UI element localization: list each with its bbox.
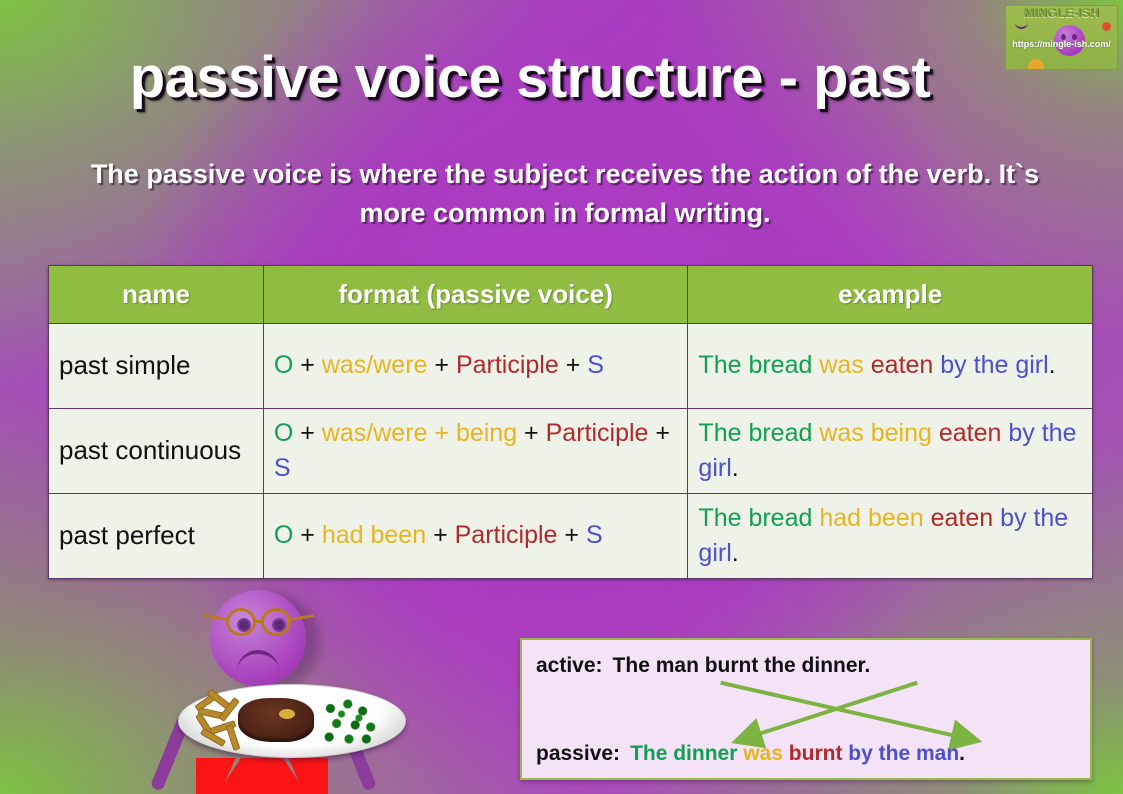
passive-sentence: The dinner was burnt by the man. xyxy=(630,742,965,765)
character-shirt xyxy=(196,758,328,794)
page-title: passive voice structure - past xyxy=(0,44,1060,111)
cell-example: The bread had been eaten by the girl. xyxy=(688,494,1093,579)
token: being xyxy=(456,419,517,447)
token: S xyxy=(586,521,603,549)
token: eaten xyxy=(931,504,994,532)
cell-format: O + was/were + being + Participle + S xyxy=(263,409,688,494)
table-row: past simple O + was/were + Participle + … xyxy=(49,324,1093,409)
table-body: past simple O + was/were + Participle + … xyxy=(49,324,1093,579)
token: had been xyxy=(819,504,923,532)
token: eaten xyxy=(939,419,1002,447)
token: had been xyxy=(322,521,426,549)
logo-dot-icon xyxy=(1102,22,1111,31)
token: Participle xyxy=(456,351,559,379)
token: was/were xyxy=(322,419,428,447)
token: The dinner xyxy=(630,742,737,765)
peas-food-icon xyxy=(318,696,380,746)
active-sentence: The man burnt the dinner. xyxy=(613,654,871,677)
token: + xyxy=(559,351,588,379)
token: + xyxy=(427,419,456,447)
passive-voice-table: name format (passive voice) example past… xyxy=(48,265,1093,579)
cell-tense-name: past continuous xyxy=(49,409,264,494)
token: The bread xyxy=(698,351,812,379)
token: The bread xyxy=(698,419,812,447)
token: + xyxy=(648,419,670,447)
glasses-lens-left xyxy=(226,608,256,636)
cell-tense-name: past perfect xyxy=(49,494,264,579)
token: S xyxy=(274,454,291,482)
token xyxy=(932,419,939,447)
token: Participle xyxy=(546,419,649,447)
arrow-subject-to-agent xyxy=(721,683,971,740)
table-header-row: name format (passive voice) example xyxy=(49,266,1093,324)
token: . xyxy=(1049,351,1056,379)
token xyxy=(864,351,871,379)
table-row: past continuous O + was/were + being + P… xyxy=(49,409,1093,494)
glasses-temple-right xyxy=(290,614,314,621)
token: . xyxy=(959,742,965,765)
table-row: past perfect O + had been + Participle +… xyxy=(49,494,1093,579)
token: burnt xyxy=(789,742,843,765)
token: O xyxy=(274,419,293,447)
token: was being xyxy=(819,419,932,447)
token: The bread xyxy=(698,504,812,532)
passive-label: passive: xyxy=(536,742,620,766)
token: eaten xyxy=(871,351,934,379)
column-header-example: example xyxy=(688,266,1093,324)
passive-sentence-line: passive:The dinner was burnt by the man. xyxy=(536,742,965,766)
token: by the man xyxy=(848,742,959,765)
token: + xyxy=(293,521,322,549)
glasses-icon xyxy=(204,608,314,638)
token: Participle xyxy=(455,521,558,549)
steak-food-icon xyxy=(238,698,314,742)
logo-brand-text: MINGLE-ISH xyxy=(1006,6,1117,20)
token: O xyxy=(274,351,293,379)
token: + xyxy=(426,521,455,549)
cell-example: The bread was eaten by the girl. xyxy=(688,324,1093,409)
logo-smile-icon xyxy=(1015,22,1028,29)
page-subtitle: The passive voice is where the subject r… xyxy=(55,155,1075,233)
token: was xyxy=(743,742,783,765)
cell-format: O + was/were + Participle + S xyxy=(263,324,688,409)
token: was/were xyxy=(322,351,428,379)
active-label: active: xyxy=(536,654,603,678)
active-sentence-line: active:The man burnt the dinner. xyxy=(536,654,870,678)
eye-left xyxy=(237,618,251,632)
column-header-format: format (passive voice) xyxy=(263,266,688,324)
arrow-object-to-subject xyxy=(742,683,917,740)
token xyxy=(924,504,931,532)
cell-tense-name: past simple xyxy=(49,324,264,409)
token: by the girl xyxy=(940,351,1048,379)
token: + xyxy=(293,351,322,379)
glasses-lens-right xyxy=(261,608,291,636)
token: was xyxy=(819,351,863,379)
token: O xyxy=(274,521,293,549)
token: + xyxy=(557,521,586,549)
glasses-temple-left xyxy=(204,614,228,621)
token: S xyxy=(587,351,604,379)
cell-format: O + had been + Participle + S xyxy=(263,494,688,579)
token: + xyxy=(293,419,322,447)
token: . xyxy=(732,539,739,567)
active-passive-example-box: active:The man burnt the dinner. passive… xyxy=(520,638,1092,780)
cell-example: The bread was being eaten by the girl. xyxy=(688,409,1093,494)
character-illustration xyxy=(150,588,450,794)
token: . xyxy=(732,454,739,482)
eye-right xyxy=(272,618,286,632)
token: + xyxy=(517,419,546,447)
token: + xyxy=(427,351,456,379)
column-header-name: name xyxy=(49,266,264,324)
